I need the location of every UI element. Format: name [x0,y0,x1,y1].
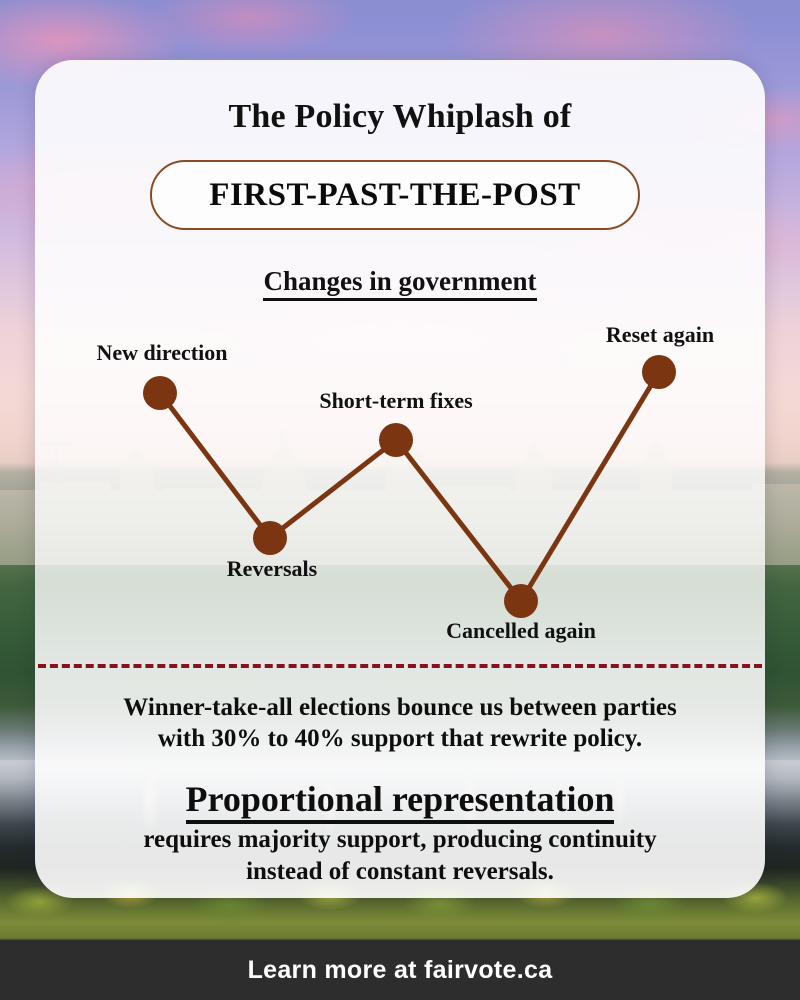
fptp-badge-label: FIRST-PAST-THE-POST [209,177,580,214]
pr-line-2: instead of constant reversals. [52,856,748,888]
pr-heading-text: Proportional representation [186,779,615,824]
chart-heading: Changes in government [0,266,800,297]
pr-paragraph: requires majority support, producing con… [52,824,748,887]
page-title: The Policy Whiplash of [0,98,800,136]
explainer-paragraph: Winner-take-all elections bounce us betw… [52,692,748,754]
fptp-badge: FIRST-PAST-THE-POST [150,160,640,230]
chart-marker-0 [143,376,177,410]
chart-label-0: New direction [97,340,228,366]
explainer-line-1: Winner-take-all elections bounce us betw… [52,692,748,723]
infographic-root: The Policy Whiplash of FIRST-PAST-THE-PO… [0,0,800,1000]
chart-marker-4 [642,355,676,389]
chart-label-3: Cancelled again [446,618,596,644]
footer-bar: Learn more at fairvote.ca [0,940,800,1000]
chart-label-2: Short-term fixes [319,388,472,414]
footer-label: Learn more at fairvote.ca [248,956,553,985]
chart-label-4: Reset again [606,322,714,348]
section-divider [38,664,762,668]
explainer-line-2: with 30% to 40% support that rewrite pol… [52,723,748,754]
pr-heading: Proportional representation [52,778,748,820]
pr-line-1: requires majority support, producing con… [52,824,748,856]
chart-marker-1 [253,521,287,555]
chart-marker-3 [504,584,538,618]
chart-heading-text: Changes in government [263,266,536,301]
chart-label-1: Reversals [227,556,317,582]
chart-marker-2 [379,423,413,457]
